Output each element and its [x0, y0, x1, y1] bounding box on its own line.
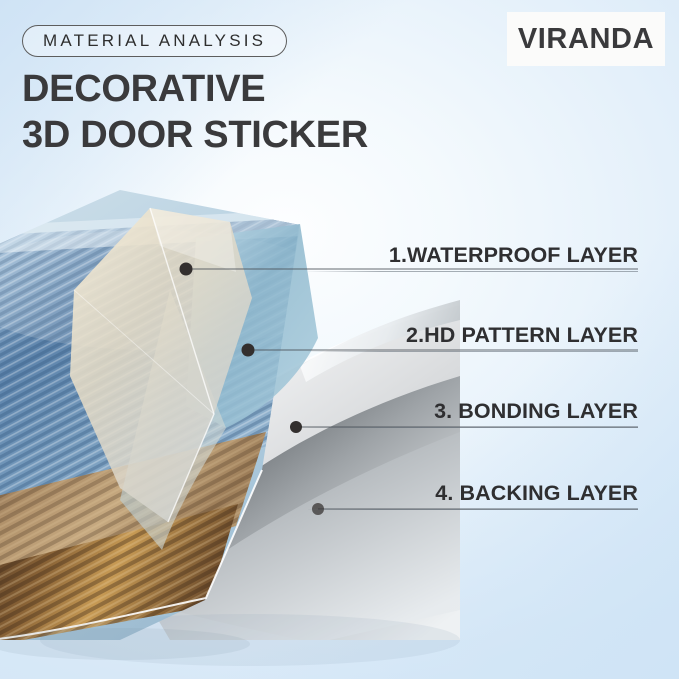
layer-label-3-text: 3. BONDING LAYER: [308, 398, 638, 424]
eyebrow-pill: MATERIAL ANALYSIS: [22, 25, 287, 57]
page-title-line-2: 3D DOOR STICKER: [22, 112, 368, 158]
layer-label-1-rule: [308, 271, 638, 272]
layer-label-4-rule: [308, 509, 638, 510]
brand-name: VIRANDA: [518, 23, 654, 56]
eyebrow-label: MATERIAL ANALYSIS: [43, 31, 266, 51]
brand-logo-box: VIRANDA: [507, 12, 665, 66]
layer-label-4-text: 4. BACKING LAYER: [308, 480, 638, 506]
layer-label-2: 2.HD PATTERN LAYER: [308, 322, 638, 352]
layer-label-2-text: 2.HD PATTERN LAYER: [308, 322, 638, 348]
layer-label-1: 1.WATERPROOF LAYER: [308, 242, 638, 272]
material-analysis-infographic: MATERIAL ANALYSIS DECORATIVE 3D DOOR STI…: [0, 0, 679, 679]
layer-label-2-rule: [308, 351, 638, 352]
layer-label-1-text: 1.WATERPROOF LAYER: [308, 242, 638, 268]
layer-label-3: 3. BONDING LAYER: [308, 398, 638, 428]
page-title: DECORATIVE 3D DOOR STICKER: [22, 66, 368, 158]
page-title-line-1: DECORATIVE: [22, 68, 265, 110]
layer-label-3-rule: [308, 427, 638, 428]
layer-label-4: 4. BACKING LAYER: [308, 480, 638, 510]
